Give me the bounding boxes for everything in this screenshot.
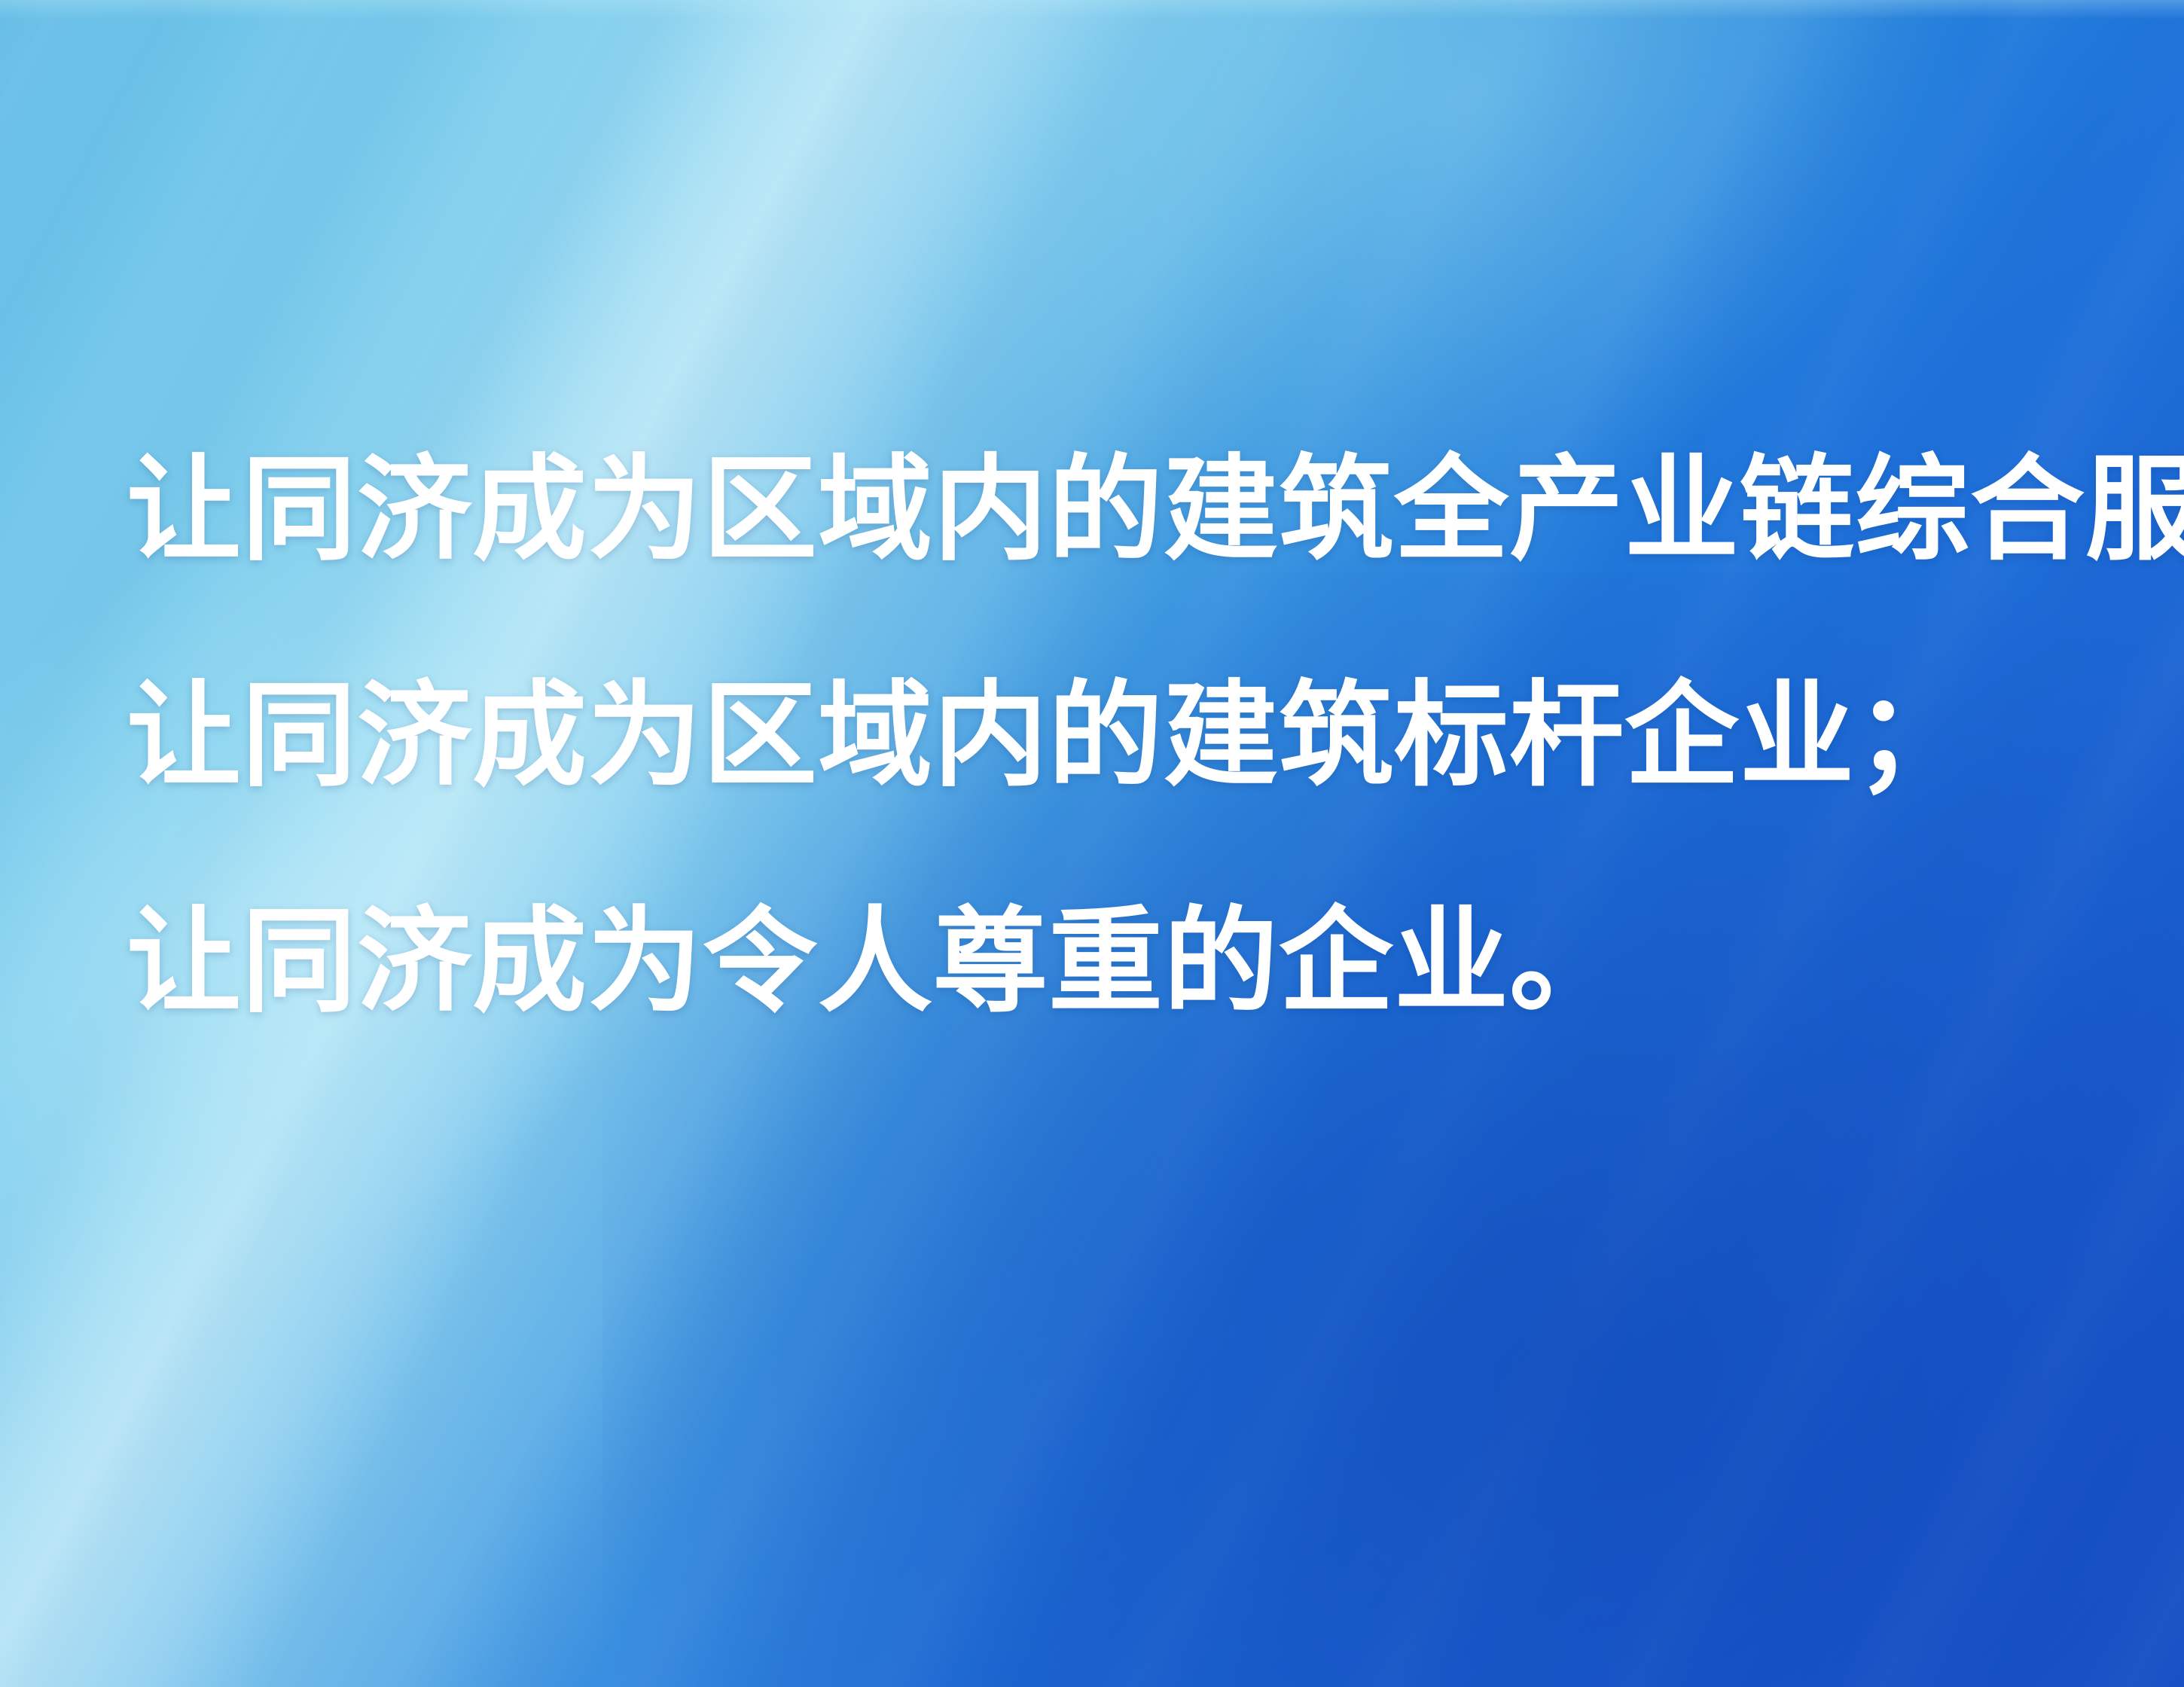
presentation-slide: 让同济成为区域内的建筑全产业链综合服务商； 让同济成为区域内的建筑标杆企业； 让… — [0, 0, 2184, 1687]
vision-line-1: 让同济成为区域内的建筑全产业链综合服务商； — [127, 452, 2054, 566]
vision-line-3: 让同济成为令人尊重的企业。 — [127, 904, 2054, 1018]
edge-highlight-top — [0, 0, 2184, 20]
vision-statement-block: 让同济成为区域内的建筑全产业链综合服务商； 让同济成为区域内的建筑标杆企业； 让… — [127, 452, 2054, 1018]
vision-line-2: 让同济成为区域内的建筑标杆企业； — [127, 678, 2054, 792]
